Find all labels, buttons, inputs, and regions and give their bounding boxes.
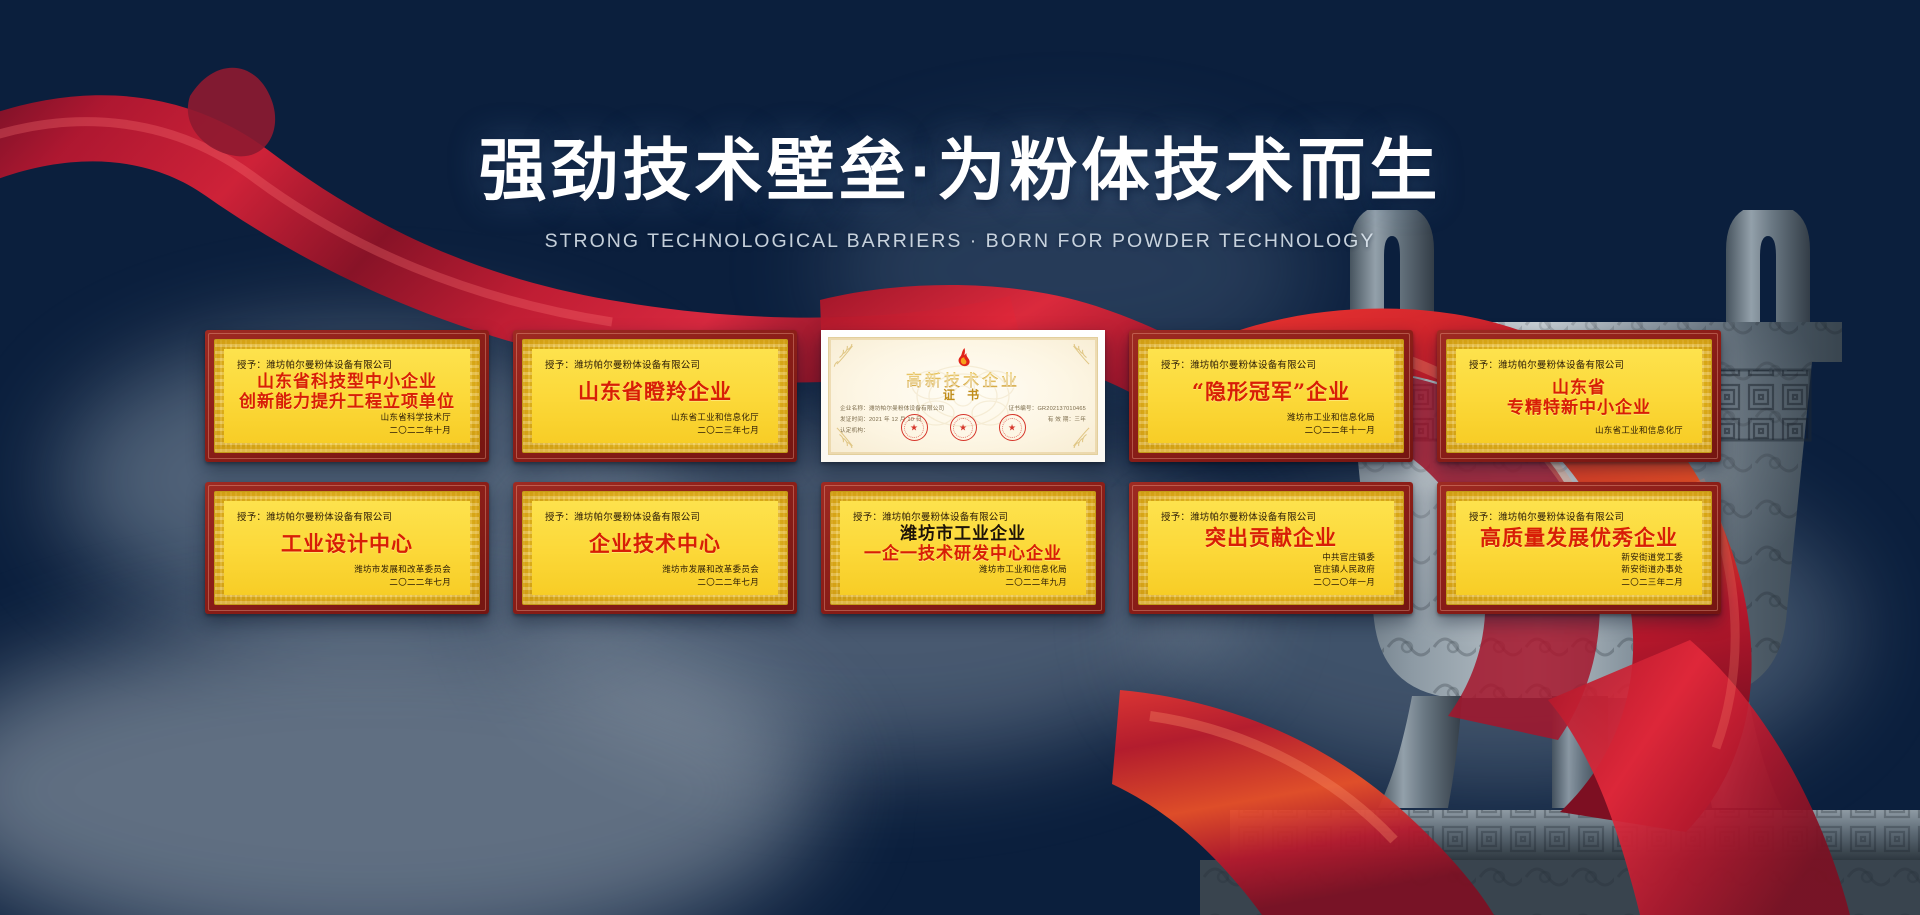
plaque-date: 二〇二三年七月 (545, 425, 759, 437)
plaque-face: 授予：潍坊帕尔曼粉体设备有限公司工业设计中心潍坊市发展和改革委员会二〇二二年七月 (224, 501, 470, 595)
plaque-award-title: 企业技术中心 (545, 524, 765, 564)
honor-cell[interactable]: 授予：潍坊帕尔曼粉体设备有限公司“隐形冠军”企业潍坊市工业和信息化局二〇二二年十… (1129, 330, 1413, 462)
honor-cell[interactable]: 授予：潍坊帕尔曼粉体设备有限公司山东省专精特新中小企业山东省工业和信息化厅 (1437, 330, 1721, 462)
plaque-date: 二〇二〇年一月 (1161, 577, 1375, 589)
page-title: 强劲技术壁垒·为粉体技术而生 (0, 132, 1920, 210)
plaque-grantee: 授予：潍坊帕尔曼粉体设备有限公司 (1469, 357, 1689, 371)
plaque-grantee: 授予：潍坊帕尔曼粉体设备有限公司 (237, 509, 457, 523)
plaque-issuer-block: 山东省科学技术厅二〇二二年十月 (237, 412, 457, 437)
plaque-inner-frame: 授予：潍坊帕尔曼粉体设备有限公司潍坊市工业企业一企一技术研发中心企业潍坊市工业和… (830, 491, 1096, 605)
plaque-inner-frame: 授予：潍坊帕尔曼粉体设备有限公司企业技术中心潍坊市发展和改革委员会二〇二二年七月 (522, 491, 788, 605)
honors-row: 授予：潍坊帕尔曼粉体设备有限公司工业设计中心潍坊市发展和改革委员会二〇二二年七月… (205, 482, 1725, 614)
award-plaque[interactable]: 授予：潍坊帕尔曼粉体设备有限公司山东省专精特新中小企业山东省工业和信息化厅 (1437, 330, 1721, 462)
plaque-issuer: 中共官庄镇委 (1161, 552, 1375, 564)
plaque-inner-frame: 授予：潍坊帕尔曼粉体设备有限公司工业设计中心潍坊市发展和改革委员会二〇二二年七月 (214, 491, 480, 605)
plaque-grantee: 授予：潍坊帕尔曼粉体设备有限公司 (853, 509, 1073, 523)
plaque-issuer: 山东省工业和信息化厅 (1469, 425, 1683, 437)
plaque-face: 授予：潍坊帕尔曼粉体设备有限公司山东省瞪羚企业山东省工业和信息化厅二〇二三年七月 (532, 349, 778, 443)
plaque-issuer-block: 山东省工业和信息化厅二〇二三年七月 (545, 412, 765, 437)
plaque-issuer-block: 中共官庄镇委官庄镇人民政府二〇二〇年一月 (1161, 552, 1381, 589)
plaque-issuer: 新安街道党工委 (1469, 552, 1683, 564)
plaque-inner-frame: 授予：潍坊帕尔曼粉体设备有限公司山东省瞪羚企业山东省工业和信息化厅二〇二三年七月 (522, 339, 788, 453)
plaque-award-title: 高质量发展优秀企业 (1469, 524, 1689, 552)
plaque-date: 二〇二三年二月 (1469, 577, 1683, 589)
plaque-face: 授予：潍坊帕尔曼粉体设备有限公司高质量发展优秀企业新安街道党工委新安街道办事处二… (1456, 501, 1702, 595)
plaque-award-line: 突出贡献企业 (1205, 526, 1337, 550)
plaque-award-line: 山东省 (1552, 379, 1606, 398)
plaque-issuer: 潍坊市发展和改革委员会 (545, 564, 759, 576)
flame-icon (952, 347, 974, 369)
honors-grid: 授予：潍坊帕尔曼粉体设备有限公司山东省科技型中小企业创新能力提升工程立项单位山东… (205, 330, 1725, 614)
plaque-face: 授予：潍坊帕尔曼粉体设备有限公司突出贡献企业中共官庄镇委官庄镇人民政府二〇二〇年… (1148, 501, 1394, 595)
plaque-award-title: 山东省科技型中小企业创新能力提升工程立项单位 (237, 372, 457, 412)
plaque-grantee: 授予：潍坊帕尔曼粉体设备有限公司 (237, 357, 457, 371)
plaque-date: 二〇二二年十一月 (1161, 425, 1375, 437)
plaque-inner-frame: 授予：潍坊帕尔曼粉体设备有限公司突出贡献企业中共官庄镇委官庄镇人民政府二〇二〇年… (1138, 491, 1404, 605)
plaque-award-line: 山东省瞪羚企业 (578, 380, 732, 404)
plaque-face: 授予：潍坊帕尔曼粉体设备有限公司潍坊市工业企业一企一技术研发中心企业潍坊市工业和… (840, 501, 1086, 595)
seal-icon (950, 414, 977, 441)
plaque-award-title: 突出贡献企业 (1161, 524, 1381, 552)
honor-cell[interactable]: 授予：潍坊帕尔曼粉体设备有限公司山东省瞪羚企业山东省工业和信息化厅二〇二三年七月 (513, 330, 797, 462)
banner-stage: 强劲技术壁垒·为粉体技术而生 STRONG TECHNOLOGICAL BARR… (0, 0, 1920, 915)
honor-cell[interactable]: 授予：潍坊帕尔曼粉体设备有限公司企业技术中心潍坊市发展和改革委员会二〇二二年七月 (513, 482, 797, 614)
honor-cell[interactable]: 高新技术企业证 书企业名称：潍坊帕尔曼粉体设备有限公司证书编号：GR202137… (821, 330, 1105, 462)
plaque-inner-frame: 授予：潍坊帕尔曼粉体设备有限公司山东省科技型中小企业创新能力提升工程立项单位山东… (214, 339, 480, 453)
plaque-inner-frame: 授予：潍坊帕尔曼粉体设备有限公司“隐形冠军”企业潍坊市工业和信息化局二〇二二年十… (1138, 339, 1404, 453)
plaque-date: 二〇二二年九月 (853, 577, 1067, 589)
honor-cell[interactable]: 授予：潍坊帕尔曼粉体设备有限公司突出贡献企业中共官庄镇委官庄镇人民政府二〇二〇年… (1129, 482, 1413, 614)
plaque-issuer: 新安街道办事处 (1469, 564, 1683, 576)
plaque-award-line: 一企一技术研发中心企业 (864, 545, 1062, 564)
high-tech-enterprise-certificate[interactable]: 高新技术企业证 书企业名称：潍坊帕尔曼粉体设备有限公司证书编号：GR202137… (821, 330, 1105, 462)
plaque-award-line: 企业技术中心 (589, 532, 721, 556)
award-plaque[interactable]: 授予：潍坊帕尔曼粉体设备有限公司高质量发展优秀企业新安街道党工委新安街道办事处二… (1437, 482, 1721, 614)
plaque-issuer-block: 潍坊市工业和信息化局二〇二二年十一月 (1161, 412, 1381, 437)
award-plaque[interactable]: 授予：潍坊帕尔曼粉体设备有限公司山东省瞪羚企业山东省工业和信息化厅二〇二三年七月 (513, 330, 797, 462)
award-plaque[interactable]: 授予：潍坊帕尔曼粉体设备有限公司工业设计中心潍坊市发展和改革委员会二〇二二年七月 (205, 482, 489, 614)
plaque-award-line: “隐形冠军”企业 (1192, 380, 1350, 404)
certificate-seals (829, 414, 1097, 441)
plaque-award-title: “隐形冠军”企业 (1161, 372, 1381, 412)
honor-cell[interactable]: 授予：潍坊帕尔曼粉体设备有限公司高质量发展优秀企业新安街道党工委新安街道办事处二… (1437, 482, 1721, 614)
plaque-date: 二〇二二年七月 (545, 577, 759, 589)
award-plaque[interactable]: 授予：潍坊帕尔曼粉体设备有限公司潍坊市工业企业一企一技术研发中心企业潍坊市工业和… (821, 482, 1105, 614)
plaque-date: 二〇二二年十月 (237, 425, 451, 437)
plaque-award-title: 潍坊市工业企业一企一技术研发中心企业 (853, 524, 1073, 564)
plaque-issuer: 潍坊市发展和改革委员会 (237, 564, 451, 576)
plaque-grantee: 授予：潍坊帕尔曼粉体设备有限公司 (545, 357, 765, 371)
seal-icon (901, 414, 928, 441)
banner-heading: 强劲技术壁垒·为粉体技术而生 STRONG TECHNOLOGICAL BARR… (0, 132, 1920, 253)
plaque-award-title: 山东省专精特新中小企业 (1469, 372, 1689, 425)
certificate-field-left: 企业名称：潍坊帕尔曼粉体设备有限公司 (840, 404, 944, 412)
plaque-award-title: 工业设计中心 (237, 524, 457, 564)
award-plaque[interactable]: 授予：潍坊帕尔曼粉体设备有限公司突出贡献企业中共官庄镇委官庄镇人民政府二〇二〇年… (1129, 482, 1413, 614)
plaque-issuer: 山东省科学技术厅 (237, 412, 451, 424)
award-plaque[interactable]: 授予：潍坊帕尔曼粉体设备有限公司企业技术中心潍坊市发展和改革委员会二〇二二年七月 (513, 482, 797, 614)
plaque-issuer-block: 潍坊市发展和改革委员会二〇二二年七月 (237, 564, 457, 589)
plaque-face: 授予：潍坊帕尔曼粉体设备有限公司企业技术中心潍坊市发展和改革委员会二〇二二年七月 (532, 501, 778, 595)
plaque-award-title: 山东省瞪羚企业 (545, 372, 765, 412)
wheat-corner-icon (1067, 342, 1093, 368)
plaque-face: 授予：潍坊帕尔曼粉体设备有限公司“隐形冠军”企业潍坊市工业和信息化局二〇二二年十… (1148, 349, 1394, 443)
plaque-award-line: 山东省科技型中小企业 (257, 373, 437, 392)
plaque-grantee: 授予：潍坊帕尔曼粉体设备有限公司 (1469, 509, 1689, 523)
plaque-issuer-block: 新安街道党工委新安街道办事处二〇二三年二月 (1469, 552, 1689, 589)
plaque-issuer: 潍坊市工业和信息化局 (1161, 412, 1375, 424)
award-plaque[interactable]: 授予：潍坊帕尔曼粉体设备有限公司山东省科技型中小企业创新能力提升工程立项单位山东… (205, 330, 489, 462)
plaque-grantee: 授予：潍坊帕尔曼粉体设备有限公司 (1161, 509, 1381, 523)
honors-row: 授予：潍坊帕尔曼粉体设备有限公司山东省科技型中小企业创新能力提升工程立项单位山东… (205, 330, 1725, 462)
plaque-issuer-block: 潍坊市发展和改革委员会二〇二二年七月 (545, 564, 765, 589)
award-plaque[interactable]: 授予：潍坊帕尔曼粉体设备有限公司“隐形冠军”企业潍坊市工业和信息化局二〇二二年十… (1129, 330, 1413, 462)
plaque-grantee: 授予：潍坊帕尔曼粉体设备有限公司 (545, 509, 765, 523)
plaque-face: 授予：潍坊帕尔曼粉体设备有限公司山东省专精特新中小企业山东省工业和信息化厅 (1456, 349, 1702, 443)
honor-cell[interactable]: 授予：潍坊帕尔曼粉体设备有限公司山东省科技型中小企业创新能力提升工程立项单位山东… (205, 330, 489, 462)
plaque-issuer-block: 山东省工业和信息化厅 (1469, 425, 1689, 437)
plaque-face: 授予：潍坊帕尔曼粉体设备有限公司山东省科技型中小企业创新能力提升工程立项单位山东… (224, 349, 470, 443)
page-subtitle: STRONG TECHNOLOGICAL BARRIERS · BORN FOR… (0, 230, 1920, 253)
plaque-issuer: 潍坊市工业和信息化局 (853, 564, 1067, 576)
cloud-bloom (0, 620, 820, 915)
plaque-issuer: 山东省工业和信息化厅 (545, 412, 759, 424)
plaque-award-line: 高质量发展优秀企业 (1480, 526, 1678, 550)
plaque-award-line: 创新能力提升工程立项单位 (239, 393, 455, 412)
certificate-inner: 高新技术企业证 书企业名称：潍坊帕尔曼粉体设备有限公司证书编号：GR202137… (828, 337, 1098, 455)
plaque-award-line: 工业设计中心 (281, 532, 413, 556)
plaque-issuer-block: 潍坊市工业和信息化局二〇二二年九月 (853, 564, 1073, 589)
honor-cell[interactable]: 授予：潍坊帕尔曼粉体设备有限公司工业设计中心潍坊市发展和改革委员会二〇二二年七月 (205, 482, 489, 614)
plaque-award-line: 专精特新中小企业 (1507, 399, 1651, 418)
honor-cell[interactable]: 授予：潍坊帕尔曼粉体设备有限公司潍坊市工业企业一企一技术研发中心企业潍坊市工业和… (821, 482, 1105, 614)
certificate-subtitle: 证 书 (829, 386, 1097, 403)
plaque-grantee: 授予：潍坊帕尔曼粉体设备有限公司 (1161, 357, 1381, 371)
plaque-issuer: 官庄镇人民政府 (1161, 564, 1375, 576)
plaque-award-line: 潍坊市工业企业 (900, 525, 1026, 544)
plaque-inner-frame: 授予：潍坊帕尔曼粉体设备有限公司高质量发展优秀企业新安街道党工委新安街道办事处二… (1446, 491, 1712, 605)
wheat-corner-icon (833, 342, 859, 368)
certificate-field-right: 证书编号：GR202137010465 (1009, 404, 1087, 412)
seal-icon (999, 414, 1026, 441)
plaque-inner-frame: 授予：潍坊帕尔曼粉体设备有限公司山东省专精特新中小企业山东省工业和信息化厅 (1446, 339, 1712, 453)
certificate-field-row: 企业名称：潍坊帕尔曼粉体设备有限公司证书编号：GR202137010465 (840, 404, 1086, 412)
plaque-date: 二〇二二年七月 (237, 577, 451, 589)
